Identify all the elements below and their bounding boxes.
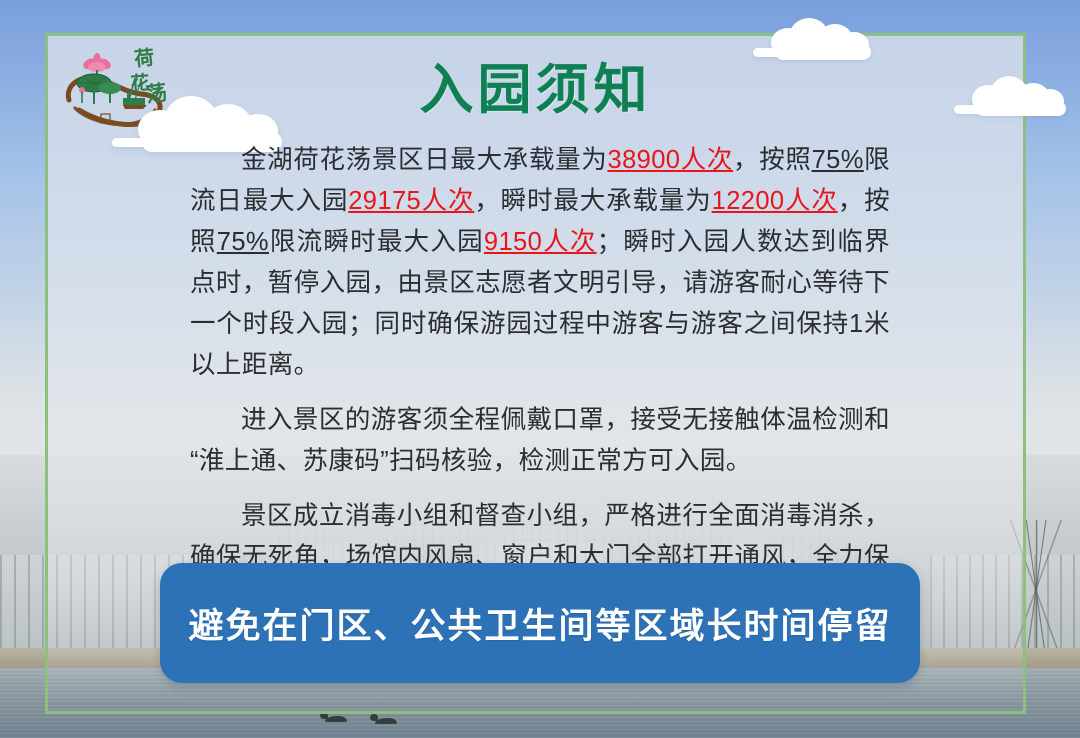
bird-icon (375, 718, 397, 724)
paragraph-capacity: 金湖荷花荡景区日最大承载量为38900人次，按照75%限流日最大入园29175人… (190, 140, 890, 386)
text-run: 金湖荷花荡景区日最大承载量为 (241, 146, 607, 174)
text-run: 限流瞬时最大入园 (269, 228, 484, 256)
bird-icon (325, 716, 347, 722)
underlined-ratio: 75% (812, 146, 864, 174)
underlined-ratio: 75% (217, 228, 269, 256)
notice-body: 金湖荷花荡景区日最大承载量为38900人次，按照75%限流日最大入园29175人… (190, 140, 890, 633)
highlight-figure: 38900人次 (607, 146, 733, 174)
text-run: ，瞬时最大承载量为 (474, 187, 711, 215)
reminder-banner: 避免在门区、公共卫生间等区域长时间停留 (160, 563, 920, 683)
text-run: ，按照 (733, 146, 812, 174)
highlight-figure: 12200人次 (712, 187, 838, 215)
paragraph-mask-and-code: 进入景区的游客须全程佩戴口罩，接受无接触体温检测和“淮上通、苏康码”扫码核验，检… (190, 400, 890, 482)
highlight-figure: 9150人次 (484, 228, 597, 256)
text-run: 进入景区的游客须全程佩戴口罩，接受无接触体温检测和“淮上通、苏康码”扫码核验，检… (190, 406, 890, 475)
page-title: 入园须知 (45, 58, 1026, 122)
poster-root: 荷 花 荡 入园须知 金湖荷花荡景区日最大承载量为38900人次，按照75%限流… (0, 0, 1080, 738)
highlight-figure: 29175人次 (348, 187, 474, 215)
reminder-banner-text: 避免在门区、公共卫生间等区域长时间停留 (188, 598, 891, 649)
